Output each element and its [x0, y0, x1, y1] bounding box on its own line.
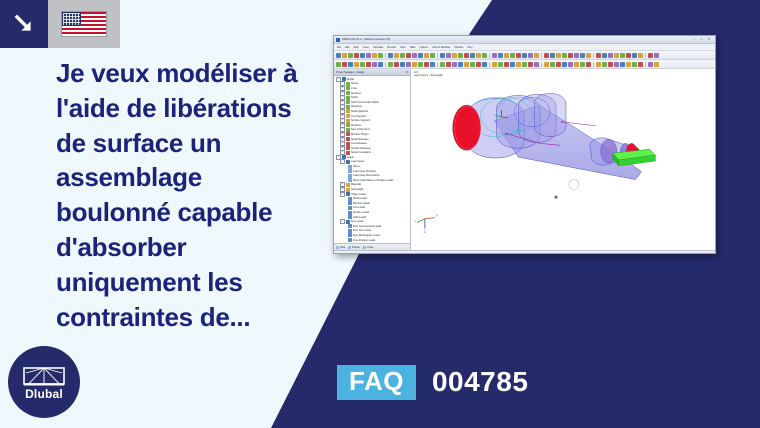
faq-footer: FAQ 004785	[337, 365, 528, 400]
navigator-title: Project Navigator - Display	[336, 71, 364, 74]
toolbar-button[interactable]	[492, 62, 497, 67]
toolbar-button[interactable]	[516, 62, 521, 67]
toolbar-button[interactable]	[378, 53, 383, 58]
tree-node-icon	[346, 151, 350, 155]
tree-node-icon	[348, 233, 352, 237]
tree-spacer	[344, 225, 347, 228]
toolbar-button[interactable]	[400, 62, 405, 67]
toolbar-button[interactable]	[556, 53, 561, 58]
tree-node-icon	[348, 197, 352, 201]
toolbar-separator	[437, 62, 438, 67]
toolbar-button[interactable]	[626, 62, 631, 67]
app-body: Project Navigator - Display ✕ -Model+Nod…	[334, 69, 715, 250]
window-controls[interactable]: – □ ✕	[694, 38, 713, 41]
toolbar-separator	[385, 53, 386, 58]
toolbar-button[interactable]	[482, 62, 487, 67]
tree-item-label: Lines	[351, 87, 357, 90]
toolbar-separator	[593, 62, 594, 67]
toolbar-button[interactable]	[522, 53, 527, 58]
toolbar-button[interactable]	[648, 53, 653, 58]
toolbar-button[interactable]	[388, 53, 393, 58]
svg-text:Y: Y	[414, 220, 416, 224]
tree-node-icon	[348, 229, 352, 233]
toolbar-button[interactable]	[580, 62, 585, 67]
dlubal-wordmark: Dlubal	[25, 388, 63, 400]
us-flag-icon	[61, 11, 107, 37]
toolbar-button[interactable]	[400, 53, 405, 58]
toolbar-button[interactable]	[614, 53, 619, 58]
frame-structure-icon	[23, 364, 65, 386]
tree-node-icon	[346, 188, 350, 192]
tree-item-label: Nodal Loads	[353, 197, 367, 200]
toolbar-separator	[541, 62, 542, 67]
toolbar-button[interactable]	[430, 62, 435, 67]
menu-item-options[interactable]: Options	[420, 46, 429, 49]
tree-spacer	[344, 197, 347, 200]
svg-text:X: X	[436, 214, 438, 218]
app-toolbar-secondary[interactable]	[334, 60, 715, 69]
menu-item-insert[interactable]: Insert	[363, 46, 369, 49]
faq-badge: FAQ	[337, 365, 416, 400]
toolbar-button[interactable]	[378, 62, 383, 67]
tab-icon	[363, 246, 366, 249]
tree-item-label: Free Concentrated Loads	[353, 225, 381, 228]
toolbar-button[interactable]	[482, 53, 487, 58]
us-flag-badge[interactable]	[48, 0, 120, 48]
arrow-down-right-icon	[11, 11, 37, 37]
tree-node-icon	[348, 178, 352, 182]
toolbar-button[interactable]	[632, 62, 637, 67]
toolbar-button[interactable]	[464, 62, 469, 67]
tree-item-label: Free Polygon Loads	[353, 239, 375, 242]
tree-node-icon	[346, 119, 350, 123]
tab-icon	[336, 246, 339, 249]
toolbar-button[interactable]	[440, 53, 445, 58]
toolbar-button[interactable]	[568, 62, 573, 67]
status-field: Model 2 - 3D	[698, 253, 712, 254]
toolbar-button[interactable]	[544, 62, 549, 67]
toolbar-button[interactable]	[348, 53, 353, 58]
toolbar-button[interactable]	[498, 62, 503, 67]
tree-item-label: Nodal Releases	[351, 138, 369, 141]
tree-node-icon	[346, 128, 350, 132]
tree-node-icon	[348, 201, 352, 205]
toolbar-button[interactable]	[568, 53, 573, 58]
tree-item-label: Solid Gas Contact Solids	[351, 101, 379, 104]
toolbar-button[interactable]	[394, 62, 399, 67]
toolbar-button[interactable]	[528, 53, 533, 58]
menu-item-help[interactable]: Help	[467, 46, 472, 49]
toolbar-button[interactable]	[336, 62, 341, 67]
toolbar-button[interactable]	[638, 53, 643, 58]
toolbar-button[interactable]	[608, 53, 613, 58]
toolbar-separator	[645, 62, 646, 67]
tree-item-label: Solid Loads	[353, 216, 366, 219]
toolbar-button[interactable]	[388, 62, 393, 67]
tree-item-label: Load Case Numbers	[353, 170, 376, 173]
tree-item-label: Line Loads	[353, 206, 365, 209]
toolbar-button[interactable]	[342, 62, 347, 67]
toolbar-button[interactable]	[430, 53, 435, 58]
toolbar-separator	[489, 53, 490, 58]
navigator-tab-data[interactable]: Data	[336, 246, 345, 249]
toolbar-button[interactable]	[574, 53, 579, 58]
tree-item-label: Self-weight	[351, 188, 363, 191]
toolbar-button[interactable]	[550, 62, 555, 67]
tree-item-label: Member Hinges	[351, 133, 369, 136]
toolbar-button[interactable]	[464, 53, 469, 58]
menu-item-window[interactable]: Window	[454, 46, 463, 49]
tree-item-label: Members	[351, 124, 361, 127]
toolbar-button[interactable]	[504, 62, 509, 67]
status-field: Plane XY	[664, 253, 674, 254]
tree-node-icon	[348, 224, 352, 228]
toolbar-button[interactable]	[458, 53, 463, 58]
tree-node-icon	[346, 96, 350, 100]
toolbar-button[interactable]	[562, 62, 567, 67]
page-title: Je veux modéliser à l'aide de libération…	[56, 56, 306, 335]
tree-node-icon	[346, 82, 350, 86]
toolbar-button[interactable]	[424, 62, 429, 67]
navigator-close-icon[interactable]: ✕	[405, 70, 408, 74]
navigator-tabs[interactable]: DataDisplayViews	[334, 243, 410, 250]
tree-node-icon	[346, 137, 350, 141]
toolbar-button[interactable]	[614, 62, 619, 67]
menu-item-tools[interactable]: Tools	[400, 46, 406, 49]
arrow-down-right-badge[interactable]	[0, 0, 48, 48]
tree-item-label: Sets of Members	[351, 128, 370, 131]
tree-spacer	[344, 239, 347, 242]
toolbar-button[interactable]	[366, 53, 371, 58]
toolbar-button[interactable]	[440, 62, 445, 67]
tree-item-label: Surface Supports	[351, 119, 370, 122]
toolbar-button[interactable]	[498, 53, 503, 58]
tree-spacer	[344, 234, 347, 237]
toolbar-button[interactable]	[470, 53, 475, 58]
rfem-app-icon	[336, 38, 340, 42]
toolbar-button[interactable]	[394, 53, 399, 58]
toolbar-button[interactable]	[648, 62, 653, 67]
toolbar-separator	[437, 53, 438, 58]
tree-spacer	[344, 206, 347, 209]
collapse-icon[interactable]: -	[340, 192, 345, 197]
tree-node-icon	[346, 132, 350, 136]
toolbar-button[interactable]	[348, 62, 353, 67]
model-view[interactable]: LC1 Load Case 1 - Self-weight	[411, 69, 715, 250]
toolbar-button[interactable]	[336, 53, 341, 58]
toolbar-button[interactable]	[406, 62, 411, 67]
toolbar-button[interactable]	[654, 53, 659, 58]
toolbar-button[interactable]	[418, 53, 423, 58]
menu-item-file[interactable]: File	[337, 46, 341, 49]
tree-item-label: Model	[347, 78, 354, 81]
tree-item-label: Surfaces	[351, 92, 361, 95]
tree-spacer	[344, 179, 347, 182]
tree-item-label: Line Supports	[351, 115, 366, 118]
toolbar-button[interactable]	[632, 53, 637, 58]
toolbar-button[interactable]	[366, 62, 371, 67]
toolbar-button[interactable]	[342, 53, 347, 58]
tree-node-icon	[348, 238, 352, 242]
toolbar-button[interactable]	[424, 53, 429, 58]
tree-node-icon	[346, 192, 350, 196]
toolbar-button[interactable]	[608, 62, 613, 67]
toolbar-button[interactable]	[446, 62, 451, 67]
toolbar-button[interactable]	[372, 62, 377, 67]
project-navigator: Project Navigator - Display ✕ -Model+Nod…	[334, 69, 411, 250]
toolbar-button[interactable]	[412, 62, 417, 67]
toolbar-button[interactable]	[620, 62, 625, 67]
tree-spacer	[344, 165, 347, 168]
collapse-icon[interactable]: -	[340, 159, 345, 164]
tree-spacer	[344, 174, 347, 177]
toolbar-button[interactable]	[360, 53, 365, 58]
tree-node-icon	[346, 91, 350, 95]
tree-item-label: Surface Releases	[351, 147, 371, 150]
toolbar-button[interactable]	[452, 62, 457, 67]
navigator-tab-label: Data	[340, 246, 345, 249]
status-right: Z=0,000 mPlane XY1,000 mModel 2 - 3D	[644, 253, 712, 254]
tree-item-label: Show Load Values of Surface Loads	[353, 179, 393, 182]
tree-spacer	[344, 202, 347, 205]
toolbar-button[interactable]	[626, 53, 631, 58]
tree-spacer	[344, 170, 347, 173]
tree-item-label: Free Rectangular Loads	[353, 234, 380, 237]
collapse-icon[interactable]: -	[340, 219, 345, 224]
tree-item-label: Solids	[351, 96, 358, 99]
toolbar-button[interactable]	[476, 53, 481, 58]
toolbar-button[interactable]	[544, 53, 549, 58]
tree-item-label: Openings	[351, 105, 362, 108]
menu-item-edit[interactable]: Edit	[345, 46, 349, 49]
status-mode: SNAP GRID OSNAP GLINE DXF	[350, 253, 385, 254]
tree-item-label: Object Loads	[351, 193, 366, 196]
tree-spacer	[344, 211, 347, 214]
tab-icon	[348, 246, 351, 249]
maximize-icon[interactable]: □	[701, 38, 703, 41]
app-titlebar: RFEM 5.26.01.xx - [Bolted connection.rf5…	[334, 36, 715, 44]
tree-item-label: Loads	[347, 156, 354, 159]
toolbar-button[interactable]	[504, 53, 509, 58]
menu-item-table[interactable]: Table	[410, 46, 416, 49]
toolbar-button[interactable]	[586, 53, 591, 58]
toolbar-button[interactable]	[556, 62, 561, 67]
menu-item-add-on-modules[interactable]: Add-on Modules	[432, 46, 450, 49]
navigator-tab-label: Views	[367, 246, 373, 249]
toolbar-button[interactable]	[596, 62, 601, 67]
tree-item-label: Load Cases	[351, 160, 364, 163]
tree-item-label: Nodal Supports	[351, 110, 368, 113]
tree-node-icon	[346, 146, 350, 150]
toolbar-button[interactable]	[522, 62, 527, 67]
tree-node-icon	[346, 109, 350, 113]
toolbar-button[interactable]	[534, 53, 539, 58]
tree-node-icon	[346, 105, 350, 109]
tree-item-label: Nodal Constraints	[351, 151, 371, 154]
toolbar-button[interactable]	[470, 62, 475, 67]
toolbar-button[interactable]	[446, 53, 451, 58]
faq-number: 004785	[432, 366, 528, 398]
svg-text:Z: Z	[424, 229, 426, 233]
toolbar-button[interactable]	[360, 62, 365, 67]
toolbar-button[interactable]	[534, 62, 539, 67]
tree-node-icon	[346, 142, 350, 146]
toolbar-button[interactable]	[510, 53, 515, 58]
status-field: 1,000 m	[682, 253, 691, 254]
toolbar-button[interactable]	[458, 62, 463, 67]
tree-item-label: Surface Loads	[353, 211, 369, 214]
tree-item-label: Free Loads	[351, 220, 364, 223]
close-icon[interactable]: ✕	[707, 38, 710, 41]
faq-slide: Je veux modéliser à l'aide de libération…	[0, 0, 760, 428]
toolbar-separator	[489, 62, 490, 67]
tree-node-icon	[348, 165, 352, 169]
global-axis-triad: X Y Z	[414, 214, 438, 234]
app-menubar[interactable]: FileEditViewInsertCalculateResultsToolsT…	[334, 44, 715, 51]
toolbar-button[interactable]	[492, 53, 497, 58]
toolbar-separator	[541, 53, 542, 58]
toolbar-button[interactable]	[516, 53, 521, 58]
toolbar-button[interactable]	[372, 53, 377, 58]
tree-node-icon	[348, 174, 352, 178]
tree-node-icon	[348, 215, 352, 219]
toolbar-separator	[645, 53, 646, 58]
toolbar-button[interactable]	[510, 62, 515, 67]
tree-item-label: Free Line Loads	[353, 229, 371, 232]
toolbar-button[interactable]	[550, 53, 555, 58]
status-field: Z=0,000 m	[644, 253, 656, 254]
toolbar-button[interactable]	[418, 62, 423, 67]
tree-node-icon	[346, 160, 350, 164]
toolbar-separator	[593, 53, 594, 58]
toolbar-button[interactable]	[406, 53, 411, 58]
app-toolbar-primary[interactable]	[334, 51, 715, 60]
tree-node-icon	[346, 183, 350, 187]
toolbar-button[interactable]	[580, 53, 585, 58]
tree-item-label: Line Releases	[351, 142, 367, 145]
toolbar-button[interactable]	[574, 62, 579, 67]
toolbar-button[interactable]	[452, 53, 457, 58]
navigator-tab-views[interactable]: Views	[363, 246, 373, 249]
tree-node-icon	[346, 220, 350, 224]
toolbar-button[interactable]	[528, 62, 533, 67]
menu-item-calculate[interactable]: Calculate	[373, 46, 383, 49]
navigator-tab-label: Display	[352, 246, 360, 249]
tree-item-label: Load Case Descriptions	[353, 174, 380, 177]
toolbar-button[interactable]	[412, 53, 417, 58]
toolbar-button[interactable]	[562, 53, 567, 58]
toolbar-button[interactable]	[602, 53, 607, 58]
menu-item-results[interactable]: Results	[387, 46, 395, 49]
toolbar-button[interactable]	[654, 62, 659, 67]
menu-item-view[interactable]: View	[353, 46, 358, 49]
minimize-icon[interactable]: –	[694, 38, 696, 41]
tree-item-label: Nodes	[351, 82, 358, 85]
status-left: Ready	[337, 253, 344, 254]
navigator-tree[interactable]: -Model+Nodes+Lines+Surfaces+Solids+Solid…	[334, 76, 410, 243]
toolbar-button[interactable]	[602, 62, 607, 67]
toolbar-button[interactable]	[354, 53, 359, 58]
toolbar-button[interactable]	[620, 53, 625, 58]
dlubal-logo[interactable]: Dlubal	[8, 346, 80, 418]
tree-node-icon	[346, 100, 350, 104]
toolbar-separator	[385, 62, 386, 67]
tree-node-icon	[346, 86, 350, 90]
tree-node-icon	[348, 169, 352, 173]
tree-spacer	[344, 216, 347, 219]
toolbar-button[interactable]	[586, 62, 591, 67]
tree-item-label: Name	[353, 165, 360, 168]
app-title: RFEM 5.26.01.xx - [Bolted connection.rf5…	[342, 38, 390, 41]
tree-item-label: Member Loads	[353, 202, 370, 205]
tree-spacer	[344, 229, 347, 232]
tree-node-icon	[346, 114, 350, 118]
model-3d-render: X Y Z	[411, 69, 715, 250]
toolbar-button[interactable]	[354, 62, 359, 67]
toolbar-button[interactable]	[476, 62, 481, 67]
tree-node-icon	[346, 123, 350, 127]
application-screenshot: RFEM 5.26.01.xx - [Bolted connection.rf5…	[333, 35, 716, 254]
top-left-badges	[0, 0, 120, 48]
tree-item-label: Materials	[351, 183, 361, 186]
navigator-tab-display[interactable]: Display	[348, 246, 360, 249]
toolbar-button[interactable]	[596, 53, 601, 58]
tree-node-icon	[348, 206, 352, 210]
app-statusbar: Ready SNAP GRID OSNAP GLINE DXF Z=0,000 …	[334, 250, 715, 254]
tree-node-icon	[348, 211, 352, 215]
toolbar-button[interactable]	[638, 62, 643, 67]
navigator-header: Project Navigator - Display ✕	[334, 69, 410, 76]
